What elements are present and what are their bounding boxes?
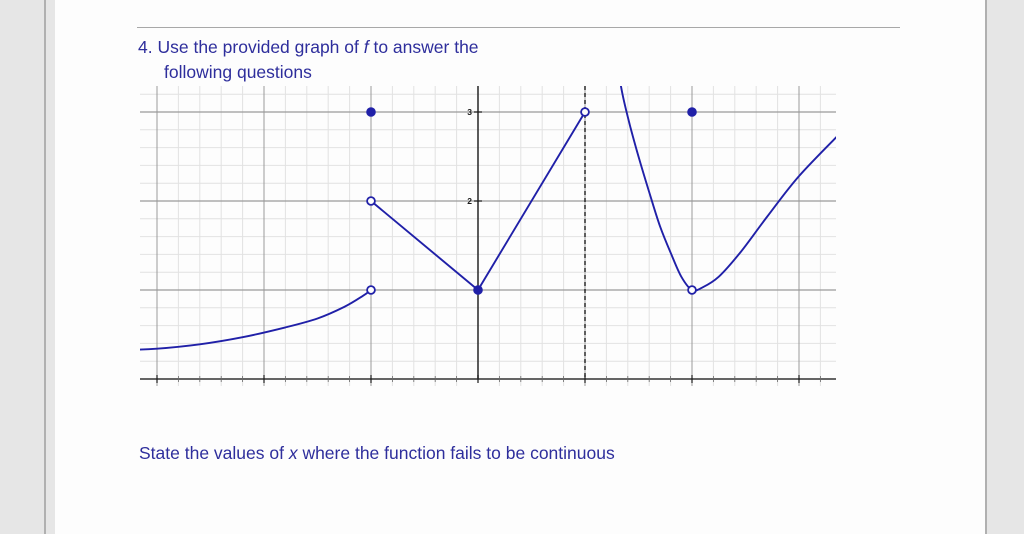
curve-exponential-branch (140, 290, 371, 350)
screenshot-root: 4. Use the provided graph of f to answer… (0, 0, 1024, 534)
x-tick-label: -1 (361, 384, 369, 386)
point-filled-point-x0-y1 (474, 286, 483, 295)
question-heading-line2: following questions (164, 60, 312, 84)
horizontal-divider (137, 27, 900, 28)
point-filled-point-x-neg1-y3 (367, 108, 376, 117)
curve-descending-segment (371, 201, 478, 290)
function-graph: -3-2-10123230 (140, 86, 836, 386)
point-open-point-x-neg1-y1 (367, 286, 375, 294)
point-filled-point-x2-y3 (688, 108, 697, 117)
x-tick-label: -3 (147, 384, 155, 386)
x-tick-label: 3 (792, 384, 797, 386)
question-prompt: State the values of x where the function… (139, 443, 615, 464)
page-left-border (44, 0, 46, 534)
x-tick-label: -2 (254, 384, 262, 386)
question-text-part1: Use the provided graph of (157, 37, 363, 57)
curves (140, 86, 836, 350)
x-tick-label: 2 (685, 384, 690, 386)
graph-canvas: -3-2-10123230 (140, 86, 836, 386)
grid-minor (140, 86, 836, 386)
y-tick-label: 3 (467, 107, 472, 117)
question-number: 4. (138, 37, 153, 57)
y-tick-label: 2 (467, 196, 472, 206)
vertical-scrollbar[interactable] (1006, 0, 1024, 534)
x-tick-label: 1 (578, 384, 583, 386)
tick-labels: -3-2-10123230 (147, 107, 820, 386)
origin-label: 0 (470, 384, 475, 386)
point-open-point-x2-y1 (688, 286, 696, 294)
question-text-part2: to answer the (369, 37, 479, 57)
grid-major (140, 86, 836, 386)
variable-symbol-x: x (289, 443, 298, 463)
prompt-part2: where the function fails to be continuou… (298, 443, 615, 463)
page-right-border (985, 0, 987, 534)
prompt-part1: State the values of (139, 443, 289, 463)
point-open-point-x-neg1-y2 (367, 197, 375, 205)
point-open-point-x1-y3 (581, 108, 589, 116)
curve-right-branch-parabola (617, 86, 836, 291)
question-heading: 4. Use the provided graph of f to answer… (138, 35, 758, 59)
